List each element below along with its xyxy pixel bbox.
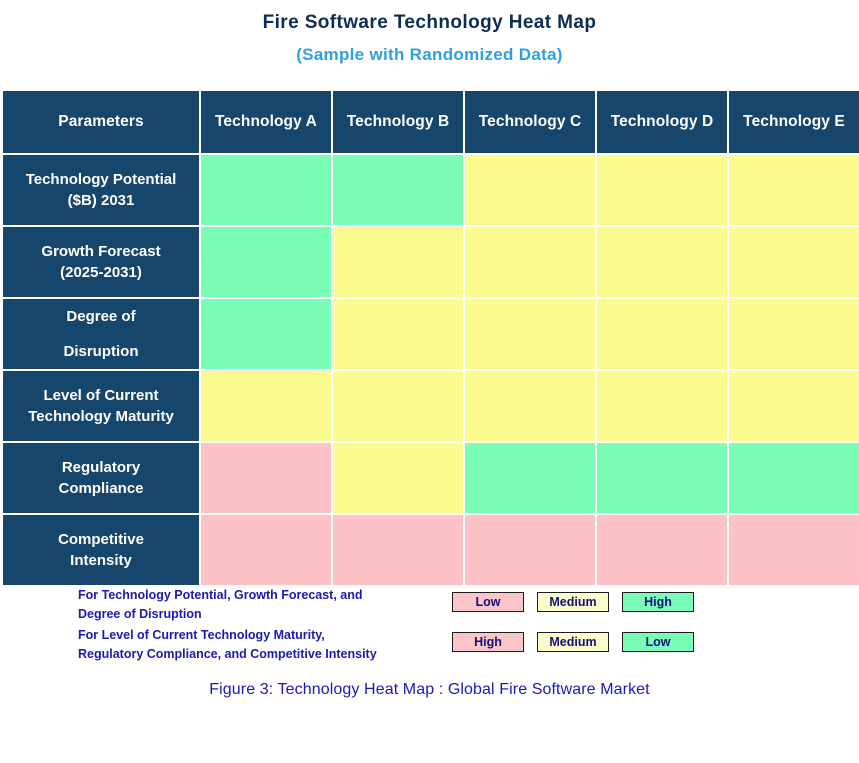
legend-description-2-line1: For Level of Current Technology Maturity… [78, 626, 438, 645]
heatmap-table: Parameters Technology A Technology B Tec… [1, 89, 859, 587]
heatmap-cell [597, 155, 727, 225]
heatmap-cell [201, 443, 331, 513]
heatmap-container: Parameters Technology A Technology B Tec… [1, 89, 858, 587]
row-label: Degree ofDisruption [3, 299, 199, 369]
heatmap-cell [597, 515, 727, 585]
row-label-line1: Level of Current [3, 385, 199, 406]
legend-description-1: For Technology Potential, Growth Forecas… [78, 586, 438, 624]
row-label-line2: Intensity [3, 550, 199, 571]
row-label-line2: ($B) 2031 [3, 190, 199, 211]
legend-row-lower-is-better: For Level of Current Technology Maturity… [0, 626, 859, 666]
heatmap-cell [465, 155, 595, 225]
heatmap-row: RegulatoryCompliance [3, 443, 859, 513]
page-title: Fire Software Technology Heat Map [0, 10, 859, 36]
row-label-line1: Competitive [3, 529, 199, 550]
heatmap-cell [465, 443, 595, 513]
figure-caption: Figure 3: Technology Heat Map : Global F… [0, 681, 859, 699]
heatmap-row: Growth Forecast(2025-2031) [3, 227, 859, 297]
heatmap-cell [333, 155, 463, 225]
row-label-line1: Regulatory [3, 457, 199, 478]
heatmap-cell [465, 227, 595, 297]
heatmap-cell [465, 299, 595, 369]
row-label-line1: Degree of [3, 299, 199, 334]
row-label: Technology Potential($B) 2031 [3, 155, 199, 225]
legend-row-higher-is-better: For Technology Potential, Growth Forecas… [0, 586, 859, 626]
legend-description-2-line2: Regulatory Compliance, and Competitive I… [78, 645, 438, 664]
heatmap-row: Level of CurrentTechnology Maturity [3, 371, 859, 441]
column-header-technology-c: Technology C [465, 91, 595, 153]
row-label-line2: Compliance [3, 478, 199, 499]
heatmap-cell [729, 371, 859, 441]
row-label-line2: Technology Maturity [3, 406, 199, 427]
heatmap-cell [201, 371, 331, 441]
legend-description-1-line1: For Technology Potential, Growth Forecas… [78, 586, 438, 605]
heatmap-row: Technology Potential($B) 2031 [3, 155, 859, 225]
heatmap-cell [333, 299, 463, 369]
legend-swatch-2-low: Low [622, 632, 694, 652]
heatmap-cell [333, 371, 463, 441]
column-header-technology-b: Technology B [333, 91, 463, 153]
heatmap-cell [201, 515, 331, 585]
heatmap-cell [201, 299, 331, 369]
heatmap-cell [729, 443, 859, 513]
title-block: Fire Software Technology Heat Map (Sampl… [0, 0, 859, 68]
heatmap-cell [729, 227, 859, 297]
legend-swatch-2-high: High [452, 632, 524, 652]
legend: For Technology Potential, Growth Forecas… [0, 586, 859, 666]
legend-swatch-1-medium: Medium [537, 592, 609, 612]
column-header-parameters: Parameters [3, 91, 199, 153]
column-header-technology-e: Technology E [729, 91, 859, 153]
column-header-technology-d: Technology D [597, 91, 727, 153]
heatmap-cell [597, 371, 727, 441]
heatmap-cell [597, 299, 727, 369]
heatmap-cell [597, 227, 727, 297]
heatmap-cell [597, 443, 727, 513]
heatmap-cell [201, 227, 331, 297]
heatmap-cell [465, 515, 595, 585]
row-label: Growth Forecast(2025-2031) [3, 227, 199, 297]
legend-swatch-1-high: High [622, 592, 694, 612]
row-label-line2: Disruption [3, 334, 199, 369]
heatmap-row: CompetitiveIntensity [3, 515, 859, 585]
heatmap-cell [333, 443, 463, 513]
heatmap-body: Technology Potential($B) 2031Growth Fore… [3, 155, 859, 585]
column-header-technology-a: Technology A [201, 91, 331, 153]
legend-swatch-2-medium: Medium [537, 632, 609, 652]
row-label: RegulatoryCompliance [3, 443, 199, 513]
row-label: Level of CurrentTechnology Maturity [3, 371, 199, 441]
heatmap-header-row: Parameters Technology A Technology B Tec… [3, 91, 859, 153]
heatmap-cell [201, 155, 331, 225]
row-label: CompetitiveIntensity [3, 515, 199, 585]
row-label-line2: (2025-2031) [3, 262, 199, 283]
heatmap-cell [729, 515, 859, 585]
legend-swatch-1-low: Low [452, 592, 524, 612]
heatmap-row: Degree ofDisruption [3, 299, 859, 369]
row-label-line1: Growth Forecast [3, 241, 199, 262]
heatmap-cell [729, 299, 859, 369]
row-label-line1: Technology Potential [3, 169, 199, 190]
heatmap-cell [333, 227, 463, 297]
heatmap-cell [333, 515, 463, 585]
page-subtitle: (Sample with Randomized Data) [0, 42, 859, 68]
heatmap-cell [729, 155, 859, 225]
legend-description-1-line2: Degree of Disruption [78, 605, 438, 624]
heatmap-cell [465, 371, 595, 441]
legend-description-2: For Level of Current Technology Maturity… [78, 626, 438, 664]
